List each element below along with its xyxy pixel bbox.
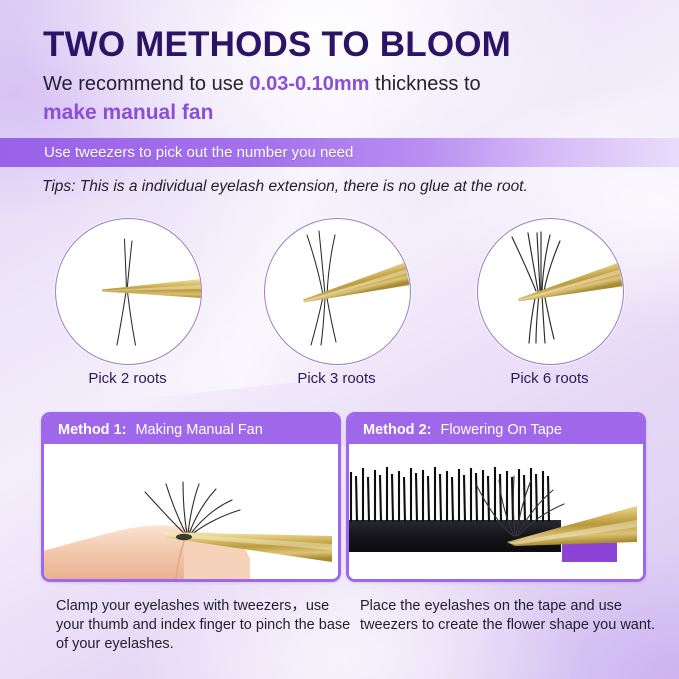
instruction-banner: Use tweezers to pick out the number you … (0, 138, 679, 167)
circle-frame-1 (55, 218, 202, 365)
pick-roots-row: Pick 2 roots (0, 218, 679, 393)
subtitle-prefix: We recommend to use (43, 73, 249, 95)
method-card-2-image (349, 444, 643, 579)
fingers-tweezers-fan-photo (44, 444, 332, 579)
method-card-2-caption: Place the eyelashes on the tape and use … (360, 597, 660, 635)
pick-roots-label-1: Pick 2 roots (55, 370, 200, 387)
tips-note: Tips: This is a individual eyelash exten… (42, 178, 528, 196)
pick-roots-label-3: Pick 6 roots (477, 370, 622, 387)
lash-strip-on-tape-photo (349, 444, 637, 579)
instruction-banner-text: Use tweezers to pick out the number you … (44, 144, 353, 161)
pick-roots-item-2: Pick 3 roots (264, 218, 409, 363)
method-card-2: Method 2: Flowering On Tape (346, 412, 646, 582)
method-card-2-header: Method 2: Flowering On Tape (349, 415, 643, 444)
subtitle-suffix: thickness to (369, 73, 480, 95)
circle-frame-2 (264, 218, 411, 365)
infographic-page: TWO METHODS TO BLOOM We recommend to use… (0, 0, 679, 679)
tweezers-lash-icon (478, 219, 623, 364)
method-card-2-title: Flowering On Tape (440, 422, 561, 438)
circle-frame-3 (477, 218, 624, 365)
thickness-highlight: 0.03-0.10mm (249, 73, 369, 95)
subtitle-line2: make manual fan (43, 101, 213, 125)
method-card-1-header: Method 1: Making Manual Fan (44, 415, 338, 444)
pick-roots-item-1: Pick 2 roots (55, 218, 200, 363)
tweezers-lash-icon (265, 219, 410, 364)
method-card-1-caption: Clamp your eyelashes with tweezers，use y… (56, 597, 356, 654)
subtitle-line1: We recommend to use 0.03-0.10mm thicknes… (43, 73, 481, 96)
tweezers-lash-icon (56, 219, 201, 364)
method-card-1-image (44, 444, 338, 579)
page-title: TWO METHODS TO BLOOM (43, 25, 511, 65)
method-card-2-number: Method 2: (363, 422, 431, 438)
method-card-1-number: Method 1: (58, 422, 126, 438)
pick-roots-label-2: Pick 3 roots (264, 370, 409, 387)
method-card-1: Method 1: Making Manual Fan (41, 412, 341, 582)
pick-roots-item-3: Pick 6 roots (477, 218, 622, 363)
method-card-1-title: Making Manual Fan (135, 422, 262, 438)
